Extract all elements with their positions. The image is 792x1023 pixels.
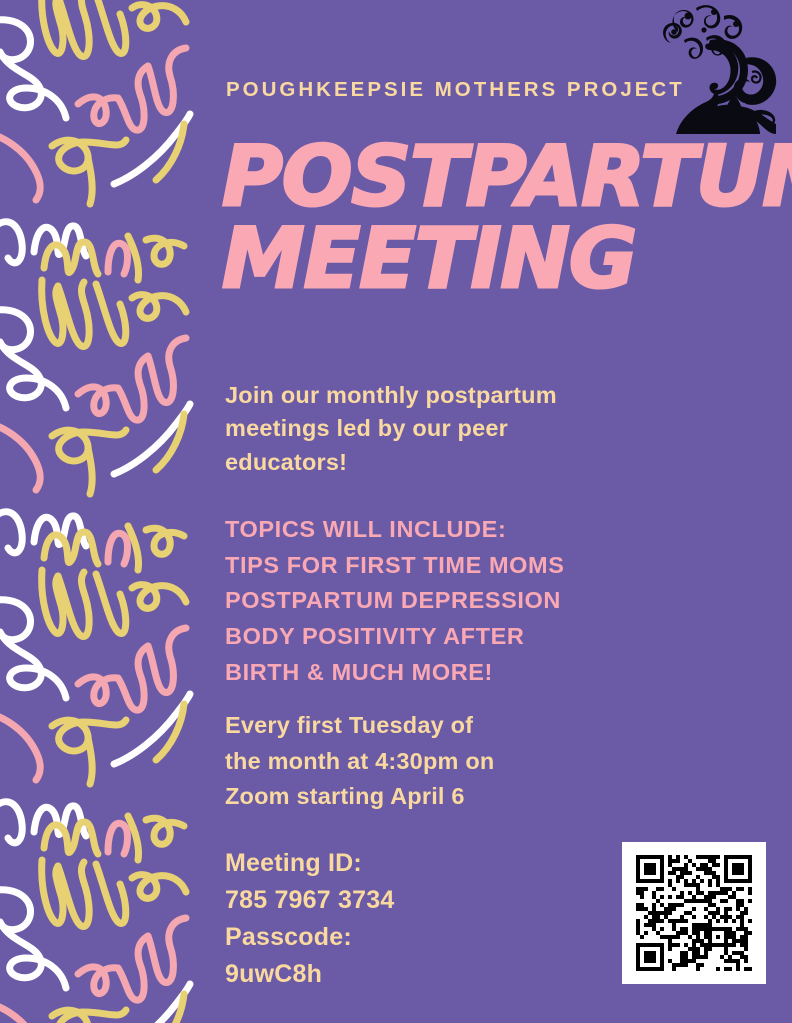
- title-line-1: POSTPARTUM: [222, 136, 782, 218]
- qr-code[interactable]: [636, 855, 752, 971]
- title-line-2: MEETING: [222, 218, 782, 300]
- squiggle-pattern-svg: [0, 0, 212, 1023]
- mother-and-baby-silhouette-logo: [648, 2, 782, 134]
- passcode-value: 9uwC8h: [225, 956, 625, 993]
- schedule-line-2: the month at 4:30pm on: [225, 744, 645, 780]
- topic-item-4: BIRTH & MUCH MORE!: [225, 655, 695, 691]
- meeting-id-value: 785 7967 3734: [225, 882, 625, 919]
- topics-list: TOPICS WILL INCLUDE: TIPS FOR FIRST TIME…: [225, 512, 695, 691]
- topic-item-3: BODY POSITIVITY AFTER: [225, 619, 695, 655]
- intro-line-1: Join our monthly postpartum: [225, 379, 695, 412]
- squiggle-pattern-border: [0, 0, 212, 1023]
- organization-name: POUGHKEEPSIE MOTHERS PROJECT: [226, 78, 685, 102]
- intro-line-2: meetings led by our peer: [225, 412, 695, 445]
- schedule-line-1: Every first Tuesday of: [225, 708, 645, 744]
- intro-line-3: educators!: [225, 446, 695, 479]
- intro-text: Join our monthly postpartum meetings led…: [225, 379, 695, 479]
- topic-item-2: POSTPARTUM DEPRESSION: [225, 583, 695, 619]
- schedule-line-3: Zoom starting April 6: [225, 779, 645, 815]
- topic-item-1: TIPS FOR FIRST TIME MOMS: [225, 548, 695, 584]
- passcode-label: Passcode:: [225, 919, 625, 956]
- schedule-text: Every first Tuesday of the month at 4:30…: [225, 708, 645, 815]
- qr-code-card[interactable]: [622, 842, 766, 984]
- logo-svg: [648, 2, 782, 134]
- meeting-id-label: Meeting ID:: [225, 845, 625, 882]
- page-title: POSTPARTUM MEETING: [222, 136, 782, 300]
- topics-heading: TOPICS WILL INCLUDE:: [225, 512, 695, 548]
- meeting-access-details: Meeting ID: 785 7967 3734 Passcode: 9uwC…: [225, 845, 625, 993]
- flyer-canvas: POUGHKEEPSIE MOTHERS PROJECT POSTPARTUM …: [0, 0, 792, 1023]
